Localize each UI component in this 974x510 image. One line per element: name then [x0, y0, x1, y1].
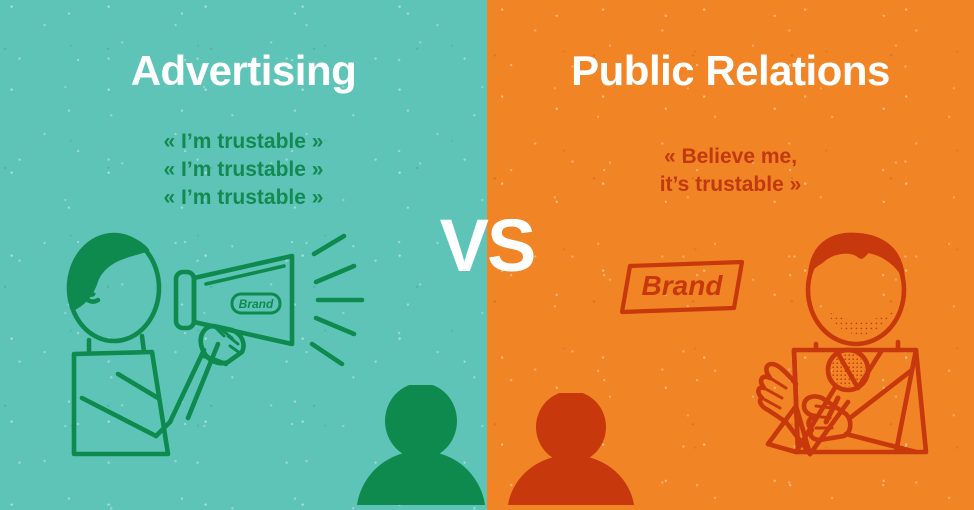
advertising-panel-title: Advertising [0, 46, 487, 96]
public-relations-quote-line: « Believe me, [487, 143, 974, 171]
arm-lower-back [82, 398, 156, 436]
vs-divider-label: VS [0, 209, 974, 283]
finger-line-3 [230, 346, 240, 353]
advertising-quote-line: « I’m trustable » [0, 184, 487, 212]
audience-silhouette-left [355, 385, 487, 510]
palm-finger-2 [764, 388, 782, 398]
upper-arm [118, 374, 158, 398]
megaphone-brand-label: Brand [239, 297, 274, 311]
advertising-vs-pr-infographic: Advertising Public Relations « I’m trust… [0, 0, 974, 510]
right-forearm [846, 434, 916, 452]
neck-right [142, 336, 144, 352]
advertising-quote-line: « I’m trustable » [0, 128, 487, 156]
advertising-quote-line: « I’m trustable » [0, 156, 487, 184]
left-arm-inner [768, 444, 796, 452]
advertising-quote-block: « I’m trustable » « I’m trustable » « I’… [0, 128, 487, 212]
microphone-mesh [831, 353, 865, 387]
public-relations-quote-block: « Believe me, it’s trustable » [487, 143, 974, 199]
public-relations-panel-title: Public Relations [487, 46, 974, 96]
mic-finger-2 [814, 416, 830, 418]
palm-finger-1 [770, 378, 786, 388]
mic-finger-1 [816, 406, 832, 408]
audience-silhouette-right [505, 393, 637, 510]
sound-line-5 [312, 344, 342, 364]
public-relations-quote-line: it’s trustable » [487, 171, 974, 199]
jacket-side-line [896, 350, 916, 452]
sound-line-4 [316, 318, 354, 334]
